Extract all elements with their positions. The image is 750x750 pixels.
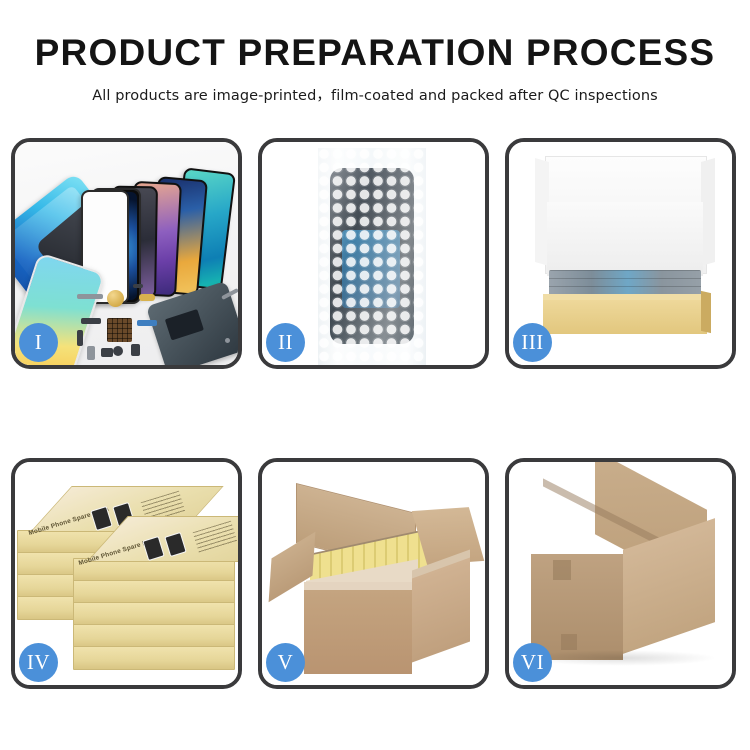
step-badge-2: II	[266, 323, 305, 362]
screw-set-part	[101, 348, 113, 357]
battery-connector-part	[131, 344, 140, 356]
speaker-mesh-part	[77, 294, 103, 299]
step-badge-5: V	[266, 643, 305, 682]
box-tray-side	[701, 291, 711, 333]
page-title: PRODUCT PREPARATION PROCESS	[0, 34, 750, 73]
carton-front-wall	[531, 554, 623, 660]
camera-module-part	[81, 318, 101, 324]
retail-box	[73, 602, 235, 626]
page-header: PRODUCT PREPARATION PROCESS All products…	[0, 0, 750, 105]
box-inner-wall	[547, 202, 703, 276]
vibration-motor-part	[113, 346, 123, 356]
process-step-grid: I II III	[11, 138, 739, 689]
plastic-sheen-overlay	[318, 148, 426, 365]
process-step-panel-3[interactable]: III	[505, 138, 736, 369]
step-badge-1: I	[19, 323, 58, 362]
gold-flex-part	[139, 294, 155, 301]
process-step-panel-4[interactable]: Mobile Phone Spare Parts Mobile Phone Sp…	[11, 458, 242, 689]
step-badge-6: VI	[513, 643, 552, 682]
process-step-panel-2[interactable]: II	[258, 138, 489, 369]
carton-tab-upper	[553, 560, 571, 580]
charging-coil-part	[107, 290, 124, 307]
connector-grid-part	[107, 318, 132, 342]
step-badge-3: III	[513, 323, 552, 362]
sim-tray-part	[87, 346, 95, 360]
retail-box	[73, 624, 235, 648]
box-lid-right-flap	[701, 158, 715, 266]
carton-front-wall	[304, 590, 412, 674]
blue-flex-part	[137, 320, 157, 326]
process-step-panel-5[interactable]: V	[258, 458, 489, 689]
retail-box	[73, 580, 235, 604]
step-badge-4: IV	[19, 643, 58, 682]
carton-tab-lower	[561, 634, 577, 650]
carton-ground-shadow	[527, 650, 717, 666]
process-step-panel-1[interactable]: I	[11, 138, 242, 369]
box-tray-front	[543, 300, 707, 334]
button-flex-part	[133, 284, 143, 288]
ribbon-cable-part	[77, 330, 83, 346]
page-subtitle: All products are image-printed，film-coat…	[0, 84, 750, 105]
process-step-panel-6[interactable]: VI	[505, 458, 736, 689]
retail-box	[73, 646, 235, 670]
screw-part	[225, 338, 230, 343]
